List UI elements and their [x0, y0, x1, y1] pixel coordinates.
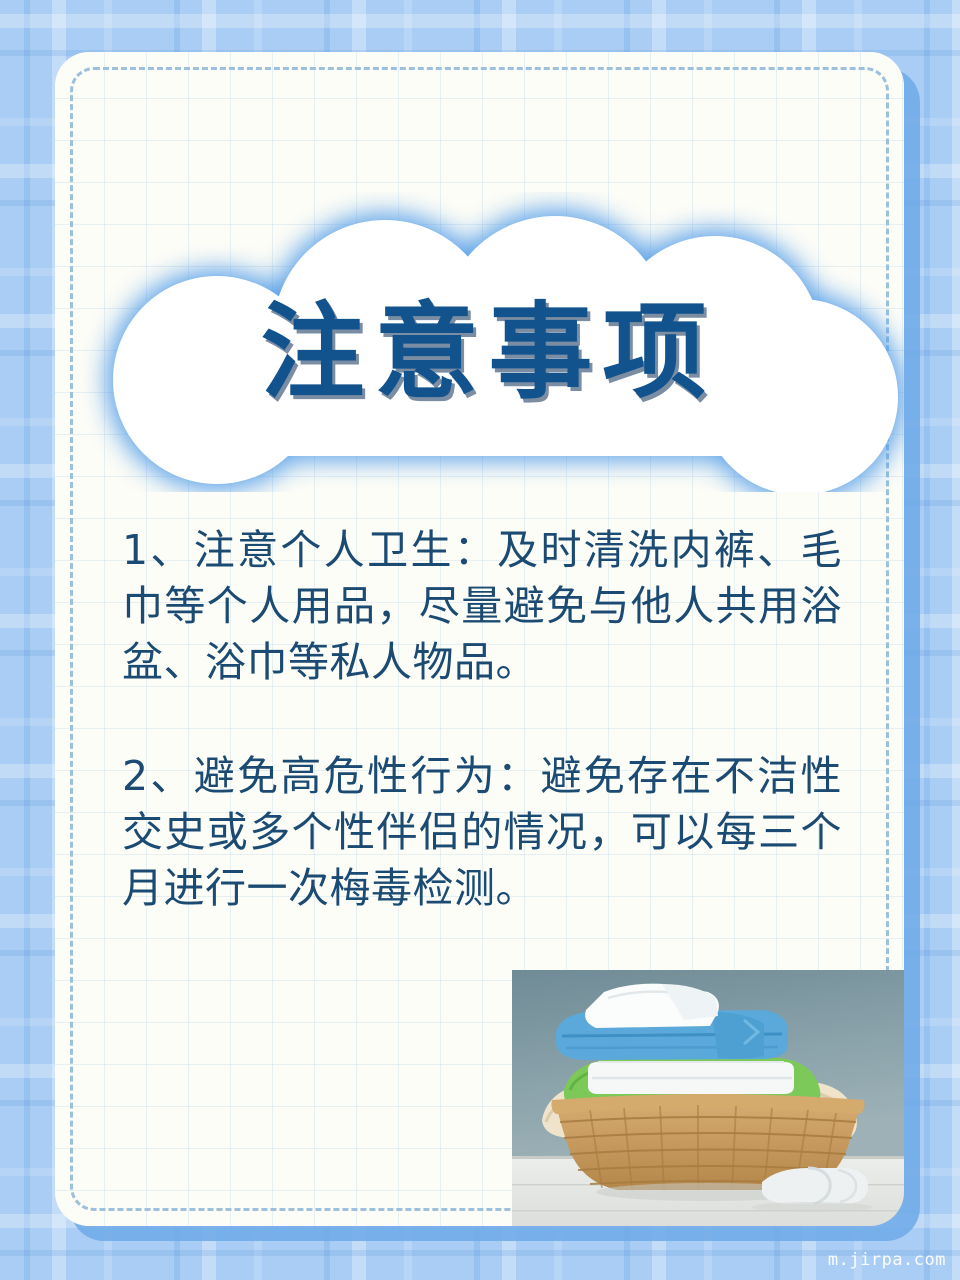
paragraph-2: 2、避免高危性行为：避免存在不洁性交史或多个性伴侣的情况，可以每三个月进行一次梅…: [122, 748, 842, 916]
watermark: m.jirpa.com: [828, 1250, 946, 1270]
paragraph-1: 1、注意个人卫生：及时清洗内裤、毛巾等个人用品，尽量避免与他人共用浴盆、浴巾等私…: [122, 522, 842, 690]
page-title: 注意事项: [55, 192, 904, 492]
content-card: 注意事项 1、注意个人卫生：及时清洗内裤、毛巾等个人用品，尽量避免与他人共用浴盆…: [55, 52, 904, 1226]
body-text-block: 1、注意个人卫生：及时清洗内裤、毛巾等个人用品，尽量避免与他人共用浴盆、浴巾等私…: [122, 522, 842, 916]
laundry-basket-photo: [512, 970, 904, 1226]
laundry-basket-illustration: [512, 970, 904, 1226]
poster-root: 注意事项 1、注意个人卫生：及时清洗内裤、毛巾等个人用品，尽量避免与他人共用浴盆…: [0, 0, 960, 1280]
cloud-headline: 注意事项: [55, 192, 904, 492]
